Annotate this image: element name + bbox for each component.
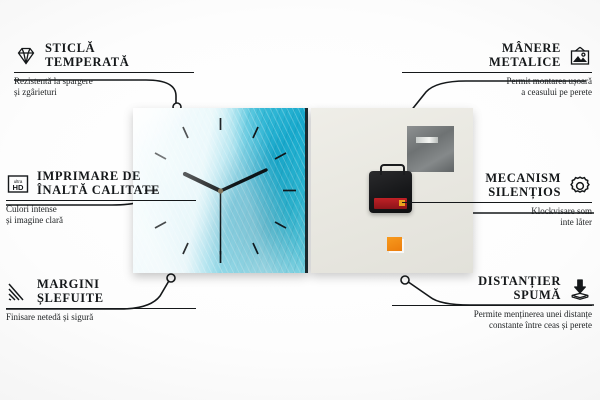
- clock-center-cap: [218, 188, 223, 193]
- feature-subtitle-line1: Finisare netedă și sigură: [6, 312, 196, 323]
- clock-hand-minute: [221, 170, 267, 191]
- feature-subtitle-line2: și imagine clară: [6, 215, 196, 226]
- divider: [14, 72, 194, 73]
- feature-distantier-spuma: DISTANȚIER SPUMĂ Permite menținerea unei…: [392, 275, 592, 331]
- polished-edge-icon: [6, 280, 30, 304]
- feature-subtitle-line2: și zgârieturi: [14, 87, 194, 98]
- feature-subtitle-line1: Culori intense: [6, 204, 196, 215]
- ultra-hd-badge-icon: ultra HD: [6, 172, 30, 196]
- feature-margini-slefuite: MARGINI ȘLEFUITE Finisare netedă și sigu…: [6, 278, 196, 323]
- feature-title-line2: SILENȚIOS: [485, 186, 561, 200]
- feature-subtitle-line2: constante între ceas și perete: [392, 320, 592, 331]
- svg-text:HD: HD: [13, 183, 24, 192]
- feature-title-line2: METALICE: [489, 56, 561, 70]
- divider: [6, 200, 196, 201]
- picture-frame-hanger-icon: [568, 44, 592, 68]
- feature-subtitle-line1: Rezistentă la spargere: [14, 76, 194, 87]
- infographic-canvas: STICLĂ TEMPERATĂ Rezistentă la spargere …: [0, 0, 600, 400]
- feature-title-line2: SPUMĂ: [478, 289, 561, 303]
- divider: [402, 202, 592, 203]
- feature-title-line1: IMPRIMARE DE: [37, 170, 160, 184]
- feature-subtitle-line2: inte låter: [402, 217, 592, 228]
- feature-subtitle-line1: Permit montarea ușoară: [402, 76, 592, 87]
- foam-spacer: [387, 237, 402, 251]
- feature-title-line1: DISTANȚIER: [478, 275, 561, 289]
- feature-imprimare-inalta-calitate: ultra HD IMPRIMARE DE ÎNALTĂ CALITATE Cu…: [6, 170, 196, 226]
- metal-hanger: [407, 126, 454, 172]
- feature-title-line2: ÎNALTĂ CALITATE: [37, 184, 160, 198]
- arrow-down-pad-icon: [568, 277, 592, 301]
- gear-icon: [568, 174, 592, 198]
- feature-title-line1: MECANISM: [485, 172, 561, 186]
- feature-title-line1: MARGINI: [37, 278, 104, 292]
- diamond-icon: [14, 44, 38, 68]
- feature-subtitle-line1: Klockvisare som: [402, 206, 592, 217]
- feature-title-line2: TEMPERATĂ: [45, 56, 129, 70]
- feature-title-line1: MÂNERE: [489, 42, 561, 56]
- feature-subtitle-line1: Permite menținerea unei distanțe: [392, 309, 592, 320]
- feature-sticla-temperata: STICLĂ TEMPERATĂ Rezistentă la spargere …: [14, 42, 194, 98]
- divider: [392, 305, 592, 306]
- feature-title-line2: ȘLEFUITE: [37, 292, 104, 306]
- feature-manere-metalice: MÂNERE METALICE Permit montarea ușoară a…: [402, 42, 592, 98]
- divider: [402, 72, 592, 73]
- feature-title-line1: STICLĂ: [45, 42, 129, 56]
- feature-mecanism-silentios: MECANISM SILENȚIOS Klockvisare som inte …: [402, 172, 592, 228]
- feature-subtitle-line2: a ceasului pe perete: [402, 87, 592, 98]
- divider: [6, 308, 196, 309]
